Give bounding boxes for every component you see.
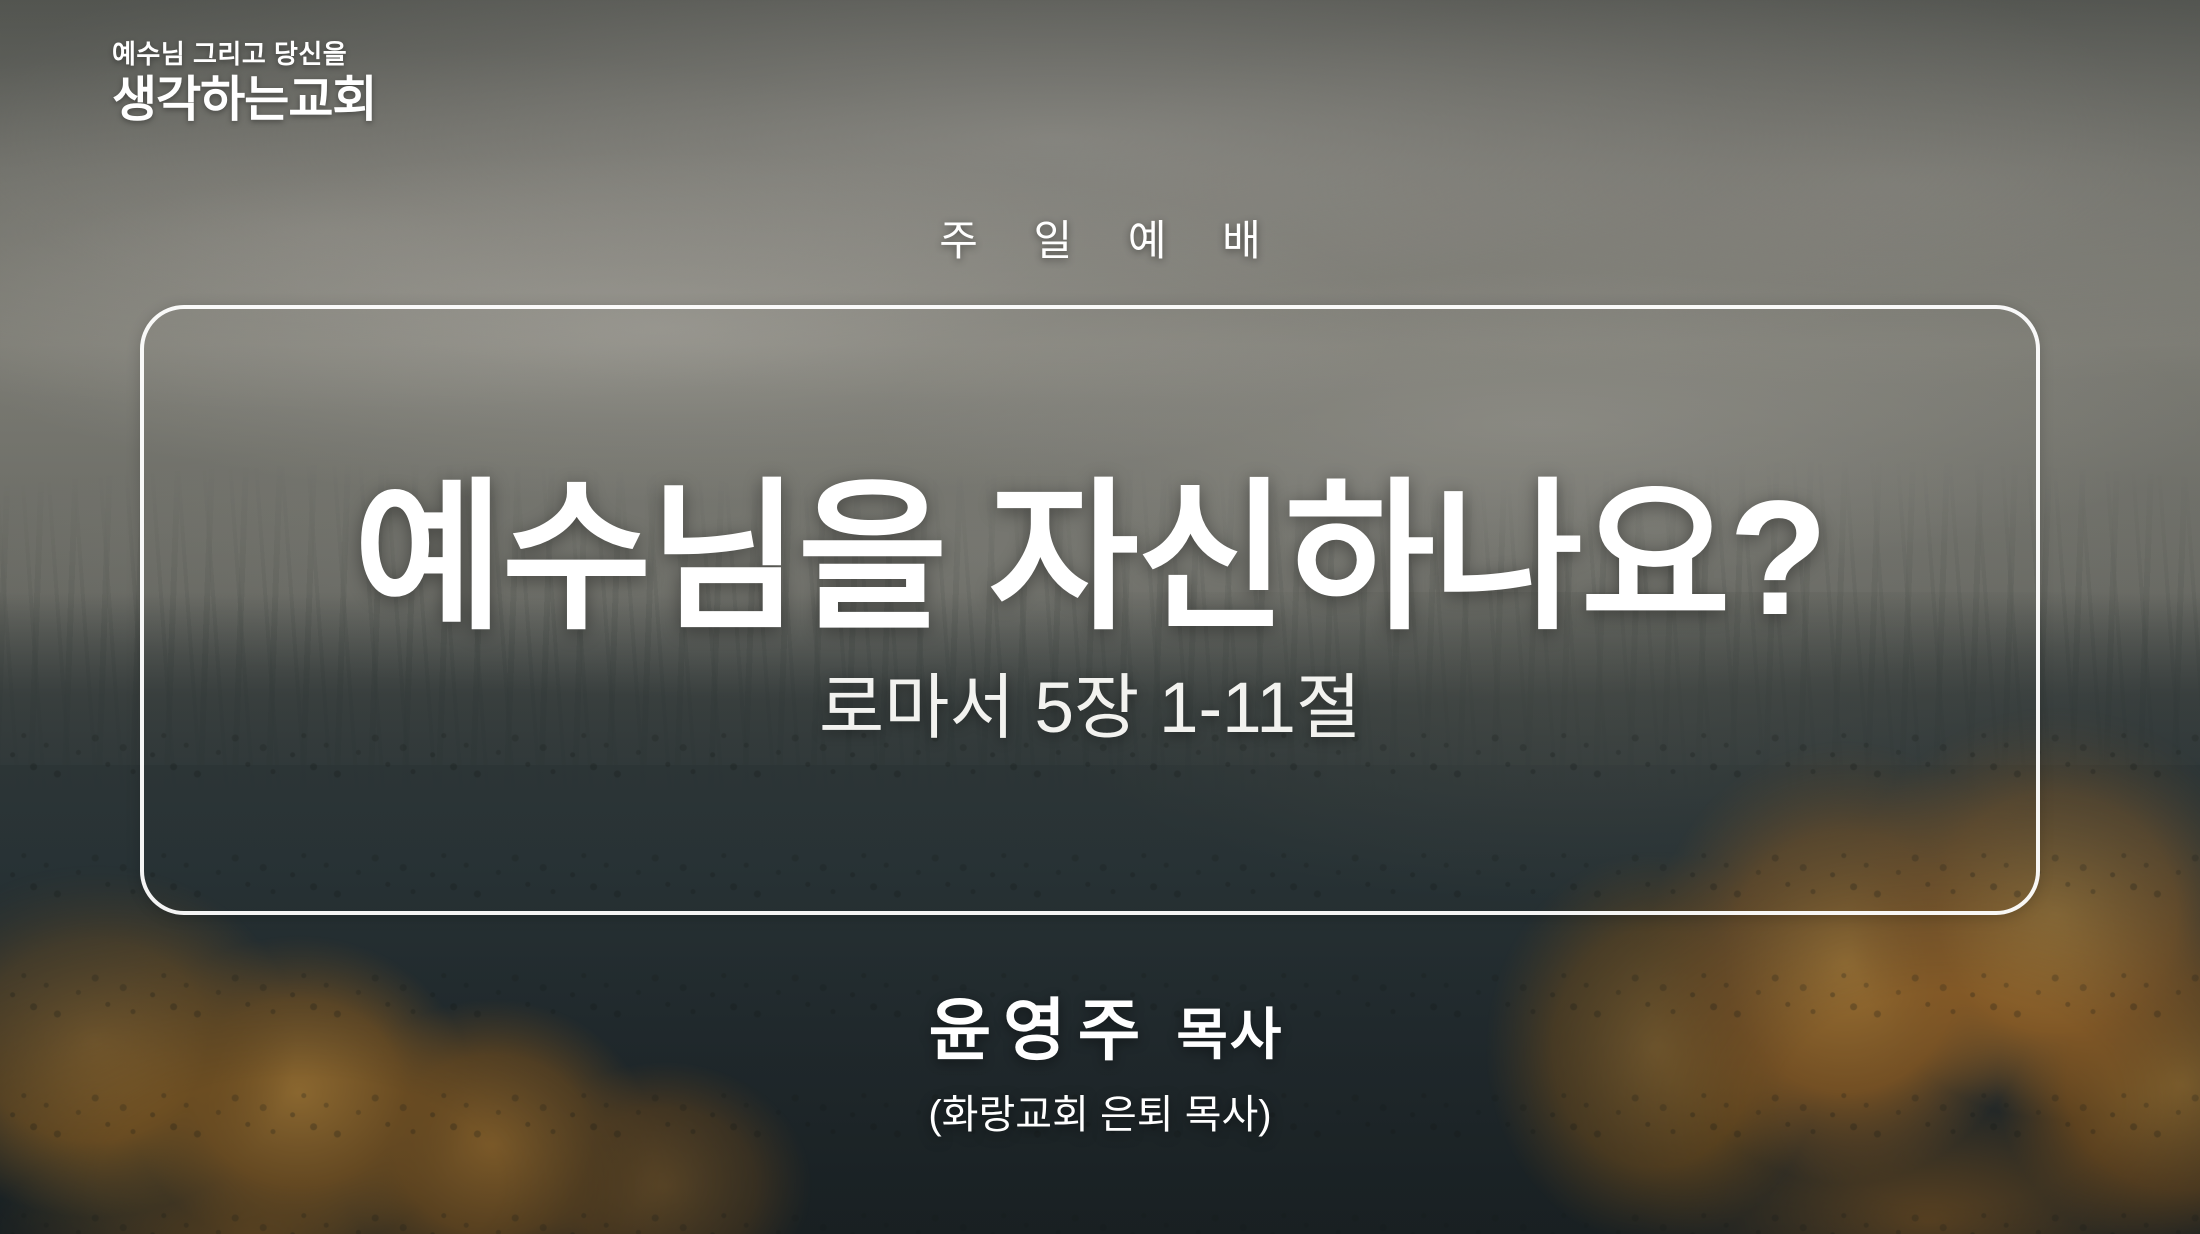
service-type-label: 주 일 예 배	[0, 207, 2200, 268]
sermon-title: 예수님을 자신하나요?	[354, 472, 1827, 645]
speaker-role: 목사	[1176, 990, 1283, 1071]
church-logo: 예수님 그리고 당신을 생각하는교회	[112, 40, 376, 126]
logo-church-name: 생각하는교회	[112, 75, 376, 126]
sermon-frame: 예수님을 자신하나요? 로마서 5장 1-11절	[140, 305, 2040, 915]
speaker-block: 윤영주 목사 (화랑교회 은퇴 목사)	[0, 975, 2200, 1140]
sermon-frame-content: 예수님을 자신하나요? 로마서 5장 1-11절	[144, 309, 2036, 911]
speaker-name: 윤영주	[917, 975, 1153, 1074]
logo-tagline: 예수님 그리고 당신을	[112, 40, 376, 69]
speaker-affiliation: (화랑교회 은퇴 목사)	[0, 1082, 2200, 1140]
sermon-title-slide: 예수님 그리고 당신을 생각하는교회 주 일 예 배 예수님을 자신하나요? 로…	[0, 0, 2200, 1234]
speaker-name-line: 윤영주 목사	[0, 975, 2200, 1074]
sermon-scripture-reference: 로마서 5장 1-11절	[819, 670, 1361, 748]
